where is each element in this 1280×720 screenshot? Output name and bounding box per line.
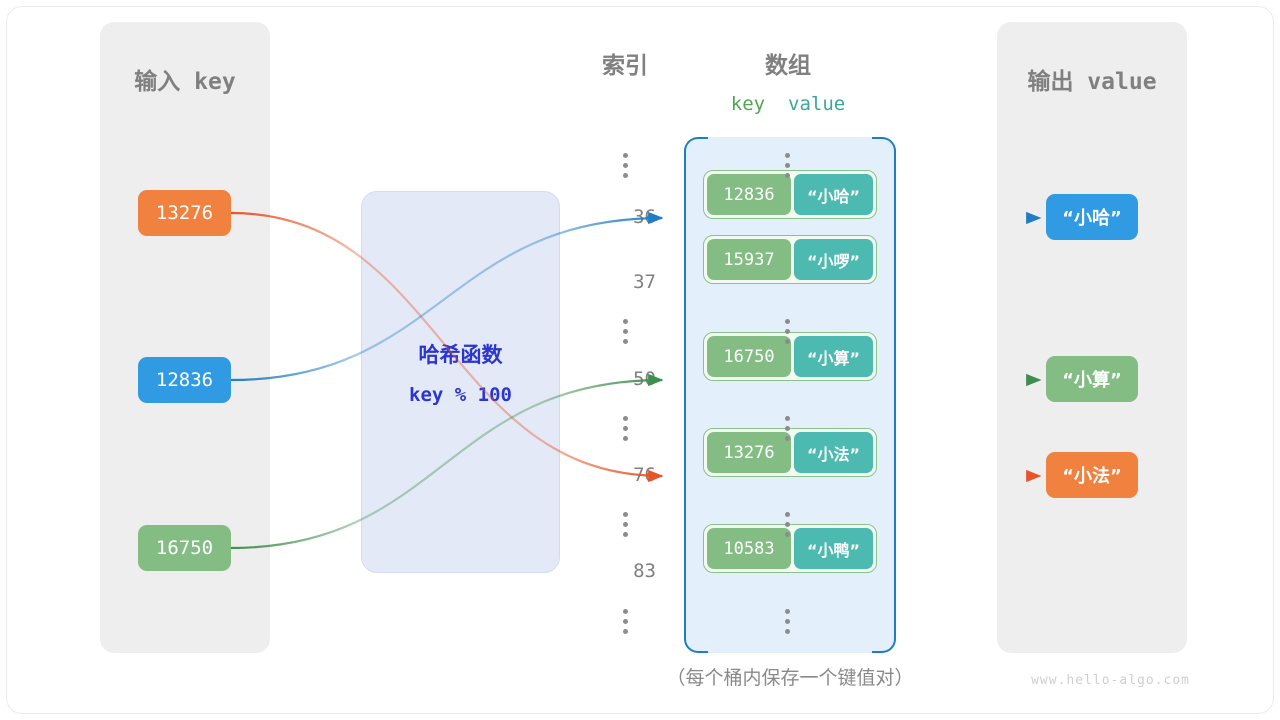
bucket-key: 10583 (707, 528, 791, 569)
input-key-chip[interactable]: 16750 (138, 525, 231, 571)
diagram-caption: （每个桶内保存一个键值对） (590, 663, 990, 690)
index-label: 37 (596, 271, 656, 293)
array-ellipsis (785, 512, 795, 542)
index-label: 50 (596, 368, 656, 390)
output-value-chip[interactable]: “小算” (1046, 356, 1138, 402)
diagram-canvas: 输入 key 输出 value 哈希函数 key % 100 索引 数组 key… (0, 0, 1280, 720)
input-key-chip[interactable]: 12836 (138, 357, 231, 403)
bucket-key: 13276 (707, 432, 791, 473)
input-panel-title: 输入 key (100, 62, 270, 96)
array-ellipsis (785, 153, 795, 183)
key-heading-label: key (731, 93, 765, 115)
index-column-heading: 索引 (575, 46, 675, 80)
index-label: 76 (596, 464, 656, 486)
index-label: 83 (596, 560, 656, 582)
output-value-panel: 输出 value (997, 22, 1187, 653)
output-value-chip[interactable]: “小哈” (1046, 194, 1138, 240)
index-ellipsis (623, 609, 633, 639)
bucket-key: 12836 (707, 174, 791, 215)
input-key-chip[interactable]: 13276 (138, 190, 231, 236)
array-bracket-right (872, 137, 896, 653)
bucket-value: “小法” (794, 432, 873, 473)
index-ellipsis (623, 153, 633, 183)
bucket-value: “小啰” (794, 239, 873, 280)
array-column-heading: 数组 (733, 46, 843, 80)
bucket-key: 15937 (707, 239, 791, 280)
output-panel-title: 输出 value (997, 62, 1187, 96)
watermark: www.hello-algo.com (1000, 673, 1190, 688)
hash-function-box: 哈希函数 key % 100 (361, 191, 560, 573)
index-label: 36 (596, 206, 656, 228)
array-ellipsis (785, 319, 795, 349)
bucket-cell[interactable]: 15937“小啰” (703, 235, 877, 284)
index-ellipsis (623, 319, 633, 349)
index-ellipsis (623, 416, 633, 446)
output-value-chip[interactable]: “小法” (1046, 452, 1138, 498)
array-ellipsis (785, 416, 795, 446)
key-value-heading: key value (688, 93, 888, 115)
bucket-value: “小算” (794, 336, 873, 377)
index-ellipsis (623, 512, 633, 542)
value-heading-label: value (788, 93, 845, 115)
bucket-value: “小哈” (794, 174, 873, 215)
bucket-value: “小鸭” (794, 528, 873, 569)
array-ellipsis (785, 609, 795, 639)
hash-function-formula: key % 100 (362, 384, 559, 406)
bucket-key: 16750 (707, 336, 791, 377)
hash-function-title: 哈希函数 (362, 339, 559, 369)
